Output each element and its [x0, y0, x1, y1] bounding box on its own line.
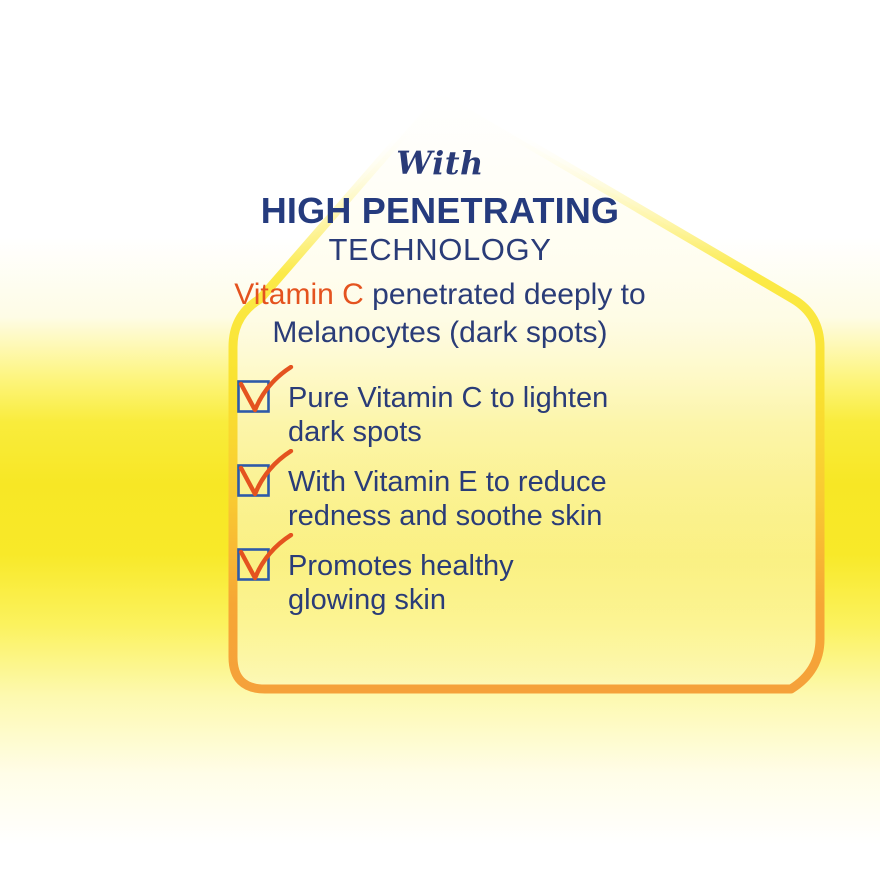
checkbox-checked-icon: [236, 533, 294, 585]
check-mark-icon: [241, 367, 291, 410]
checkbox-checked-icon: [236, 365, 294, 417]
list-item: Pure Vitamin C to lighten dark spots: [236, 381, 756, 449]
list-item-line2: dark spots: [288, 415, 756, 449]
page-subtitle: TECHNOLOGY: [0, 232, 880, 268]
lede-highlight: Vitamin C: [234, 278, 364, 311]
list-item-label: Promotes healthy glowing skin: [288, 549, 756, 617]
list-item-line2: redness and soothe skin: [288, 499, 756, 533]
list-item: Promotes healthy glowing skin: [236, 549, 756, 617]
list-item-label: Pure Vitamin C to lighten dark spots: [288, 381, 756, 449]
benefits-list: Pure Vitamin C to lighten dark spots Wit…: [236, 381, 756, 617]
eyebrow-text: With: [0, 144, 880, 182]
lede-paragraph: Vitamin C penetrated deeply to Melanocyt…: [0, 276, 880, 352]
check-mark-icon: [241, 451, 291, 494]
list-item-line2: glowing skin: [288, 583, 756, 617]
list-item-line1: With Vitamin E to reduce: [288, 465, 756, 499]
list-item-label: With Vitamin E to reduce redness and soo…: [288, 465, 756, 533]
checkbox-checked-icon: [236, 449, 294, 501]
lede-line2: Melanocytes (dark spots): [0, 314, 880, 352]
list-item-line1: Promotes healthy: [288, 549, 756, 583]
list-item: With Vitamin E to reduce redness and soo…: [236, 465, 756, 533]
lede-rest: penetrated deeply to: [364, 278, 646, 311]
check-mark-icon: [241, 535, 291, 578]
promo-graphic: With HIGH PENETRATING TECHNOLOGY Vitamin…: [0, 0, 880, 880]
list-item-line1: Pure Vitamin C to lighten: [288, 381, 756, 415]
page-title: HIGH PENETRATING: [0, 190, 880, 232]
